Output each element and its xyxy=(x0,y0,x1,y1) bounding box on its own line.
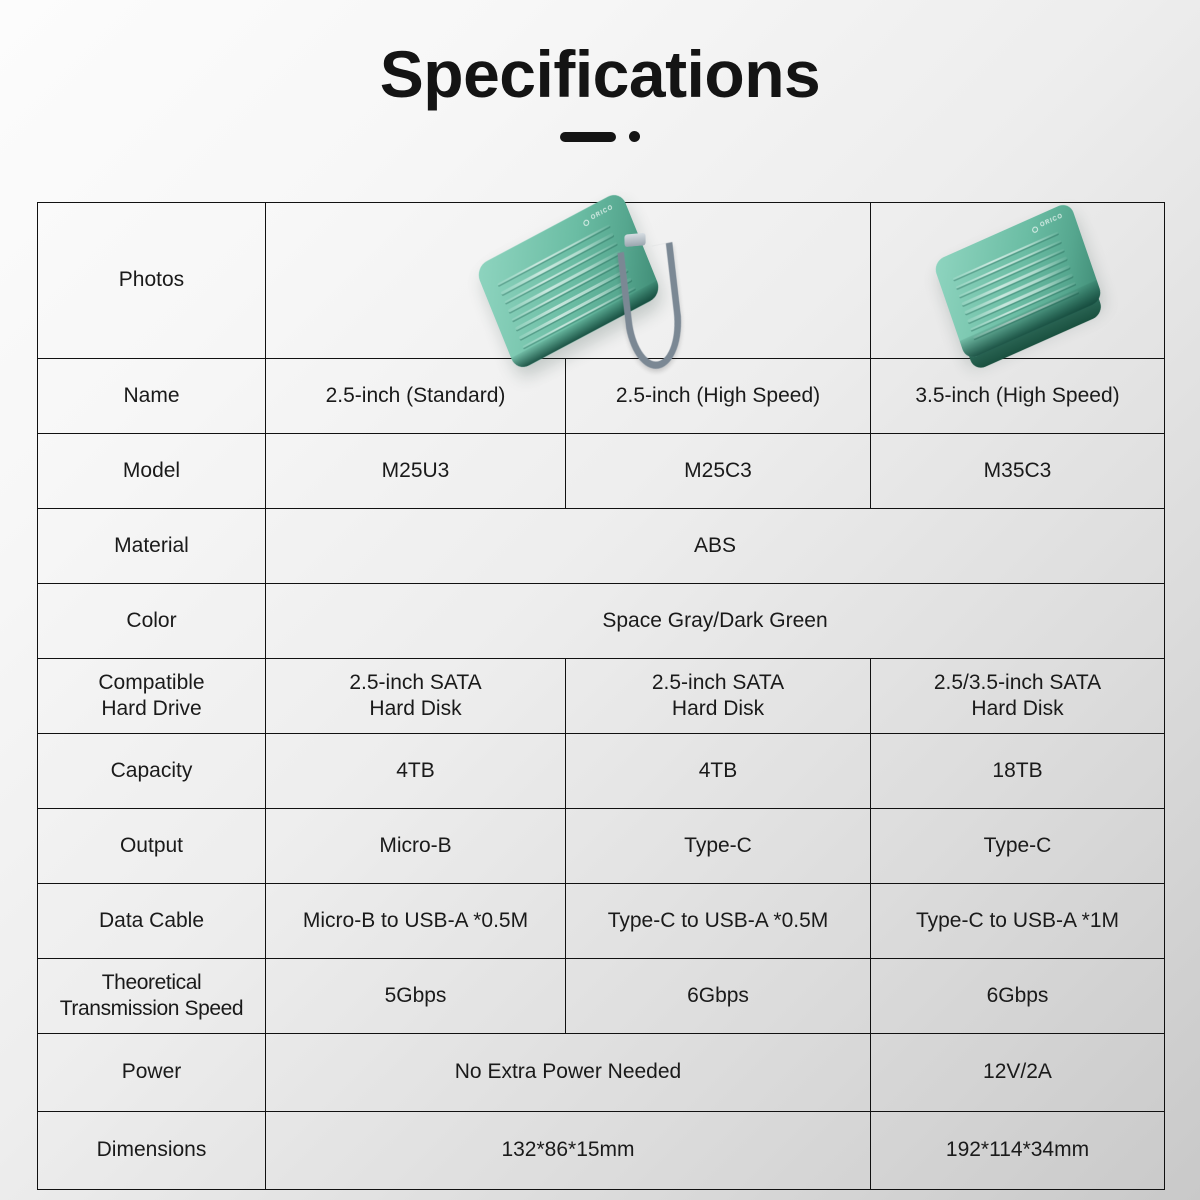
wrist-strap-icon xyxy=(617,242,686,374)
cell-output-col3: Type-C xyxy=(871,809,1165,884)
row-label-photos: Photos xyxy=(38,203,266,359)
table-row-dimensions: Dimensions 132*86*15mm 192*114*34mm xyxy=(38,1112,1165,1190)
cell-capacity-col1: 4TB xyxy=(266,734,566,809)
table-row-output: Output Micro-B Type-C Type-C xyxy=(38,809,1165,884)
strap-clip-icon xyxy=(624,232,645,246)
row-label-name: Name xyxy=(38,359,266,434)
dash-icon xyxy=(560,132,616,142)
specifications-table: Photos ORICO xyxy=(37,202,1165,1190)
table-row-color: Color Space Gray/Dark Green xyxy=(38,584,1165,659)
row-label-material: Material xyxy=(38,509,266,584)
row-label-data-cable: Data Cable xyxy=(38,884,266,959)
cell-data-cable-col2: Type-C to USB-A *0.5M xyxy=(566,884,871,959)
label-line-1: Compatible xyxy=(44,670,259,696)
row-label-transmission-speed: Theoretical Transmission Speed xyxy=(38,959,266,1034)
cell-speed-col1: 5Gbps xyxy=(266,959,566,1034)
cell-power-merged: No Extra Power Needed xyxy=(266,1034,871,1112)
row-label-compatible-hard-drive: Compatible Hard Drive xyxy=(38,659,266,734)
table-row-capacity: Capacity 4TB 4TB 18TB xyxy=(38,734,1165,809)
cell-capacity-col2: 4TB xyxy=(566,734,871,809)
device-25inch-illustration: ORICO xyxy=(474,190,662,372)
ribbed-surface xyxy=(496,223,634,347)
product-photo-25inch: ORICO xyxy=(266,203,871,359)
cell-model-col1: M25U3 xyxy=(266,434,566,509)
table-row-power: Power No Extra Power Needed 12V/2A xyxy=(38,1034,1165,1112)
product-photo-35inch: ORICO xyxy=(871,203,1165,359)
label-line-2: Hard Drive xyxy=(44,696,259,722)
page-header: Specifications xyxy=(0,40,1200,142)
cell-speed-col2: 6Gbps xyxy=(566,959,871,1034)
table-row-photos: Photos ORICO xyxy=(38,203,1165,359)
cell-output-col2: Type-C xyxy=(566,809,871,884)
table-row-model: Model M25U3 M25C3 M35C3 xyxy=(38,434,1165,509)
cell-compatible-col3: 2.5/3.5-inch SATA Hard Disk xyxy=(871,659,1165,734)
title-decoration xyxy=(0,131,1200,142)
table-row-transmission-speed: Theoretical Transmission Speed 5Gbps 6Gb… xyxy=(38,959,1165,1034)
cell-name-col3: 3.5-inch (High Speed) xyxy=(871,359,1165,434)
cell-data-cable-col1: Micro-B to USB-A *0.5M xyxy=(266,884,566,959)
cell-color-merged: Space Gray/Dark Green xyxy=(266,584,1165,659)
table-row-material: Material ABS xyxy=(38,509,1165,584)
value-line-2: Hard Disk xyxy=(572,696,864,722)
cell-capacity-col3: 18TB xyxy=(871,734,1165,809)
orico-logo-icon: ORICO xyxy=(1031,213,1064,234)
cell-output-col1: Micro-B xyxy=(266,809,566,884)
table-row-name: Name 2.5-inch (Standard) 2.5-inch (High … xyxy=(38,359,1165,434)
row-label-dimensions: Dimensions xyxy=(38,1112,266,1190)
value-line-1: 2.5-inch SATA xyxy=(572,670,864,696)
value-line-2: Hard Disk xyxy=(272,696,559,722)
orico-logo-icon: ORICO xyxy=(582,204,615,227)
device-35inch-illustration: ORICO xyxy=(932,201,1103,361)
cell-model-col2: M25C3 xyxy=(566,434,871,509)
page-title: Specifications xyxy=(0,40,1200,109)
cell-power-col3: 12V/2A xyxy=(871,1034,1165,1112)
cell-speed-col3: 6Gbps xyxy=(871,959,1165,1034)
table-row-data-cable: Data Cable Micro-B to USB-A *0.5M Type-C… xyxy=(38,884,1165,959)
brand-text: ORICO xyxy=(1039,213,1064,230)
row-label-capacity: Capacity xyxy=(38,734,266,809)
cell-dimensions-col3: 192*114*34mm xyxy=(871,1112,1165,1190)
value-line-1: 2.5/3.5-inch SATA xyxy=(877,670,1158,696)
row-label-color: Color xyxy=(38,584,266,659)
cell-model-col3: M35C3 xyxy=(871,434,1165,509)
value-line-1: 2.5-inch SATA xyxy=(272,670,559,696)
cell-name-col2: 2.5-inch (High Speed) xyxy=(566,359,871,434)
row-label-model: Model xyxy=(38,434,266,509)
row-label-output: Output xyxy=(38,809,266,884)
value-line-2: Hard Disk xyxy=(877,696,1158,722)
cell-compatible-col1: 2.5-inch SATA Hard Disk xyxy=(266,659,566,734)
cell-compatible-col2: 2.5-inch SATA Hard Disk xyxy=(566,659,871,734)
cell-data-cable-col3: Type-C to USB-A *1M xyxy=(871,884,1165,959)
brand-text: ORICO xyxy=(590,204,615,223)
table-row-compatible-hard-drive: Compatible Hard Drive 2.5-inch SATA Hard… xyxy=(38,659,1165,734)
row-label-power: Power xyxy=(38,1034,266,1112)
cell-dimensions-merged: 132*86*15mm xyxy=(266,1112,871,1190)
label-line-1: Theoretical xyxy=(44,970,259,996)
dot-icon xyxy=(629,131,640,142)
label-line-2: Transmission Speed xyxy=(44,996,259,1022)
cell-material-merged: ABS xyxy=(266,509,1165,584)
